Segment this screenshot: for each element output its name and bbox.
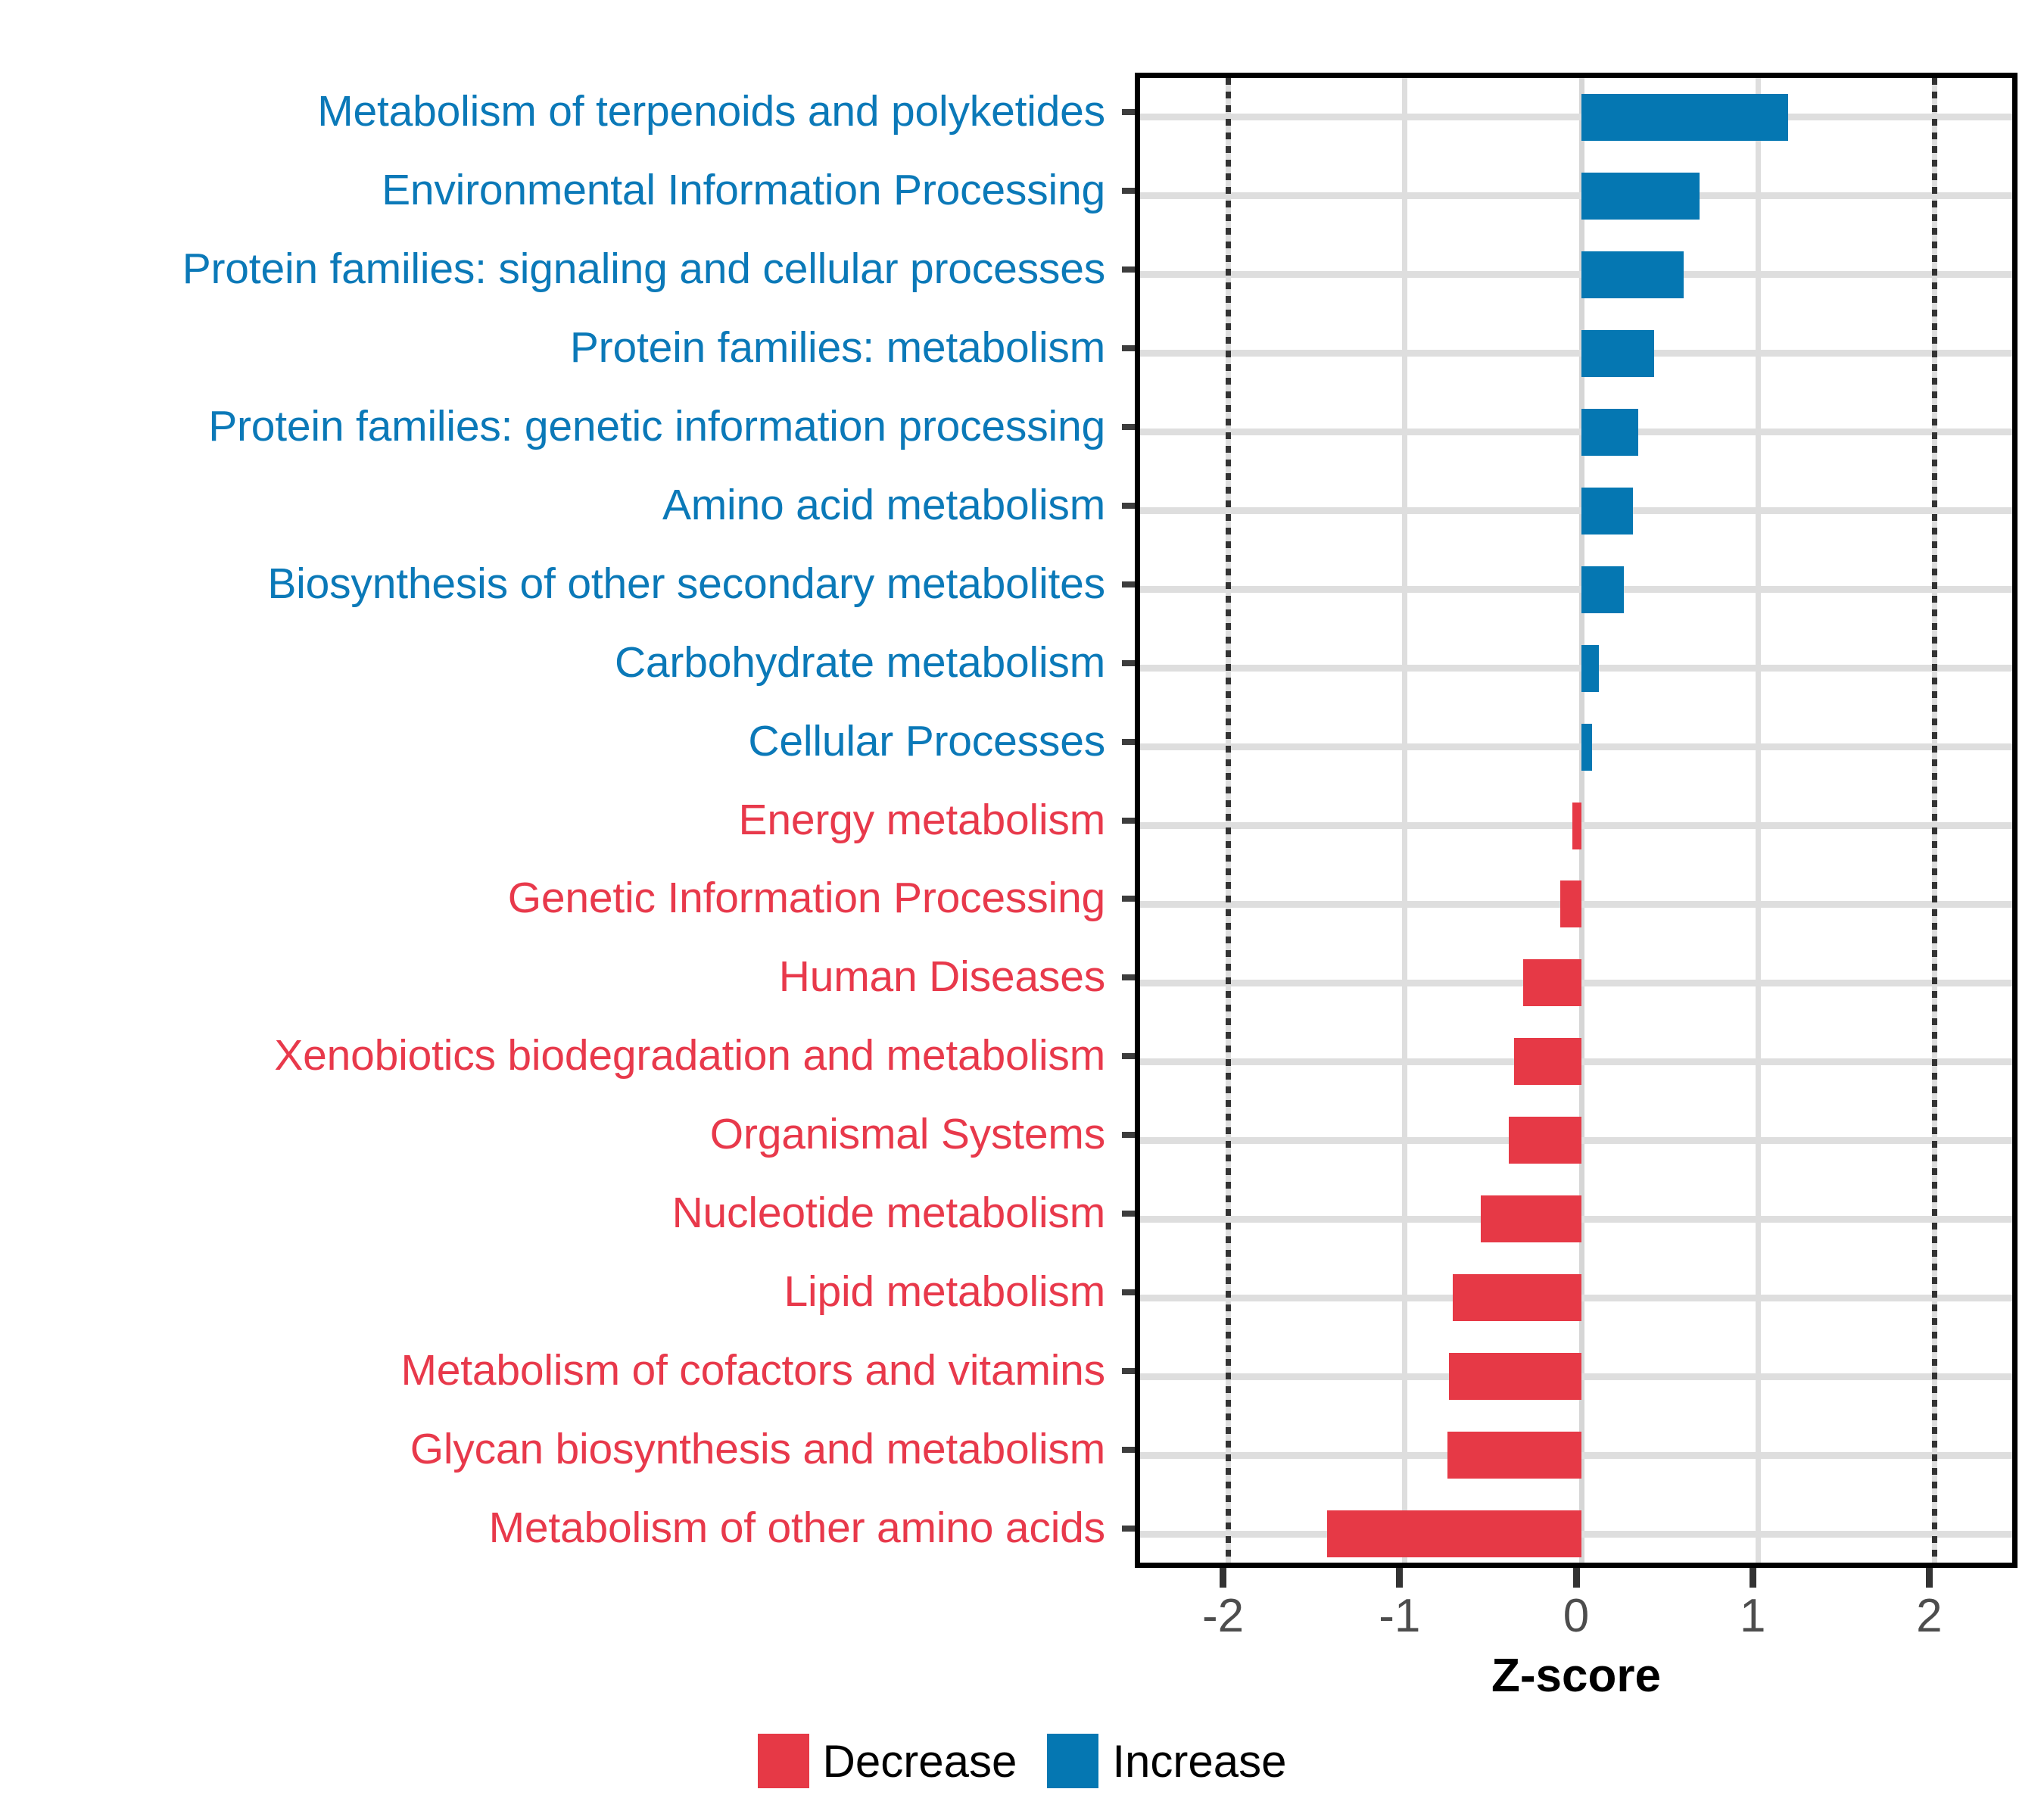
y-tick-mark: [1122, 188, 1135, 194]
y-tick-mark: [1122, 1526, 1135, 1532]
y-tick-mark: [1122, 1053, 1135, 1059]
legend-entry-increase[interactable]: Increase: [1047, 1734, 1286, 1788]
x-tick-label: 2: [1916, 1589, 1942, 1643]
bar[interactable]: [1481, 1195, 1581, 1242]
legend-entry-decrease[interactable]: Decrease: [758, 1734, 1017, 1788]
plot-panel: [1135, 73, 2018, 1568]
y-tick-mark: [1122, 818, 1135, 824]
category-label: Protein families: genetic information pr…: [208, 388, 1105, 466]
category-label: Biosynthesis of other secondary metaboli…: [267, 545, 1105, 624]
bar[interactable]: [1453, 1274, 1581, 1321]
bar[interactable]: [1581, 251, 1684, 298]
category-label: Energy metabolism: [739, 781, 1105, 860]
y-tick-mark: [1122, 503, 1135, 509]
gridline-horizontal: [1140, 507, 2012, 514]
y-tick-mark: [1122, 581, 1135, 587]
bar[interactable]: [1581, 330, 1654, 377]
kegg-zscore-bar-chart: Metabolism of terpenoids and polyketides…: [0, 0, 2044, 1817]
y-tick-mark: [1122, 1132, 1135, 1138]
gridline-horizontal: [1140, 429, 2012, 435]
legend: Decrease Increase: [0, 1734, 2044, 1788]
bar[interactable]: [1581, 724, 1592, 771]
legend-label-increase: Increase: [1112, 1735, 1286, 1787]
category-label: Metabolism of terpenoids and polyketides: [317, 73, 1105, 151]
gridline-vertical: [1402, 78, 1407, 1563]
category-label: Amino acid metabolism: [662, 466, 1105, 545]
category-label: Cellular Processes: [748, 703, 1105, 781]
x-axis: -2-1012: [1135, 1568, 2018, 1598]
y-tick-mark: [1122, 660, 1135, 666]
y-tick-mark: [1122, 1289, 1135, 1295]
category-label: Genetic Information Processing: [508, 859, 1105, 938]
x-tick-label: -1: [1379, 1589, 1420, 1643]
x-tick-mark: [1926, 1568, 1933, 1588]
gridline-horizontal: [1140, 114, 2012, 120]
x-tick-mark: [1220, 1568, 1226, 1588]
gridline-horizontal: [1140, 743, 2012, 750]
category-label: Protein families: metabolism: [570, 309, 1105, 388]
category-label: Lipid metabolism: [784, 1253, 1106, 1332]
category-label: Human Diseases: [779, 938, 1105, 1017]
category-axis-labels: Metabolism of terpenoids and polyketides…: [0, 73, 1122, 1568]
bar[interactable]: [1449, 1353, 1581, 1400]
bar[interactable]: [1509, 1117, 1581, 1164]
y-tick-mark: [1122, 1368, 1135, 1374]
y-tick-mark: [1122, 424, 1135, 430]
bar[interactable]: [1581, 409, 1638, 456]
y-tick-mark: [1122, 974, 1135, 980]
bar[interactable]: [1581, 566, 1624, 613]
category-label: Nucleotide metabolism: [672, 1174, 1105, 1253]
y-tick-mark: [1122, 896, 1135, 902]
category-label: Metabolism of other amino acids: [489, 1489, 1105, 1568]
bar[interactable]: [1447, 1432, 1581, 1479]
gridline-horizontal: [1140, 586, 2012, 593]
x-tick-label: -2: [1202, 1589, 1244, 1643]
bar[interactable]: [1581, 173, 1700, 220]
gridline-horizontal: [1140, 192, 2012, 199]
bar[interactable]: [1523, 959, 1581, 1006]
bar[interactable]: [1514, 1038, 1581, 1085]
y-tick-mark: [1122, 109, 1135, 115]
legend-swatch-increase: [1047, 1734, 1098, 1788]
legend-label-decrease: Decrease: [823, 1735, 1017, 1787]
bar[interactable]: [1572, 803, 1581, 849]
bar[interactable]: [1327, 1510, 1581, 1557]
gridline-vertical: [1756, 78, 1761, 1563]
x-tick-label: 0: [1563, 1589, 1589, 1643]
category-label: Environmental Information Processing: [382, 151, 1105, 230]
category-label: Carbohydrate metabolism: [615, 624, 1105, 703]
bar[interactable]: [1581, 94, 1788, 141]
category-label: Glycan biosynthesis and metabolism: [410, 1410, 1105, 1489]
y-tick-mark: [1122, 345, 1135, 351]
category-label: Metabolism of cofactors and vitamins: [400, 1332, 1105, 1410]
plot-area: [1140, 78, 2012, 1563]
y-tick-mark: [1122, 1211, 1135, 1217]
bar[interactable]: [1581, 488, 1633, 535]
x-tick-mark: [1573, 1568, 1580, 1588]
reference-line: [1932, 78, 1937, 1563]
gridline-horizontal: [1140, 665, 2012, 672]
gridline-horizontal: [1140, 271, 2012, 278]
bar[interactable]: [1560, 880, 1581, 927]
x-axis-title: Z-score: [1135, 1649, 2018, 1703]
x-tick-mark: [1750, 1568, 1756, 1588]
category-label: Protein families: signaling and cellular…: [182, 230, 1105, 309]
x-tick-label: 1: [1740, 1589, 1765, 1643]
x-tick-mark: [1396, 1568, 1403, 1588]
y-tick-mark: [1122, 266, 1135, 273]
y-tick-mark: [1122, 1447, 1135, 1453]
y-tick-mark: [1122, 739, 1135, 745]
category-label: Xenobiotics biodegradation and metabolis…: [274, 1017, 1105, 1095]
legend-swatch-decrease: [758, 1734, 809, 1788]
category-label: Organismal Systems: [710, 1095, 1105, 1174]
gridline-horizontal: [1140, 350, 2012, 357]
bar[interactable]: [1581, 645, 1599, 692]
reference-line: [1226, 78, 1231, 1563]
